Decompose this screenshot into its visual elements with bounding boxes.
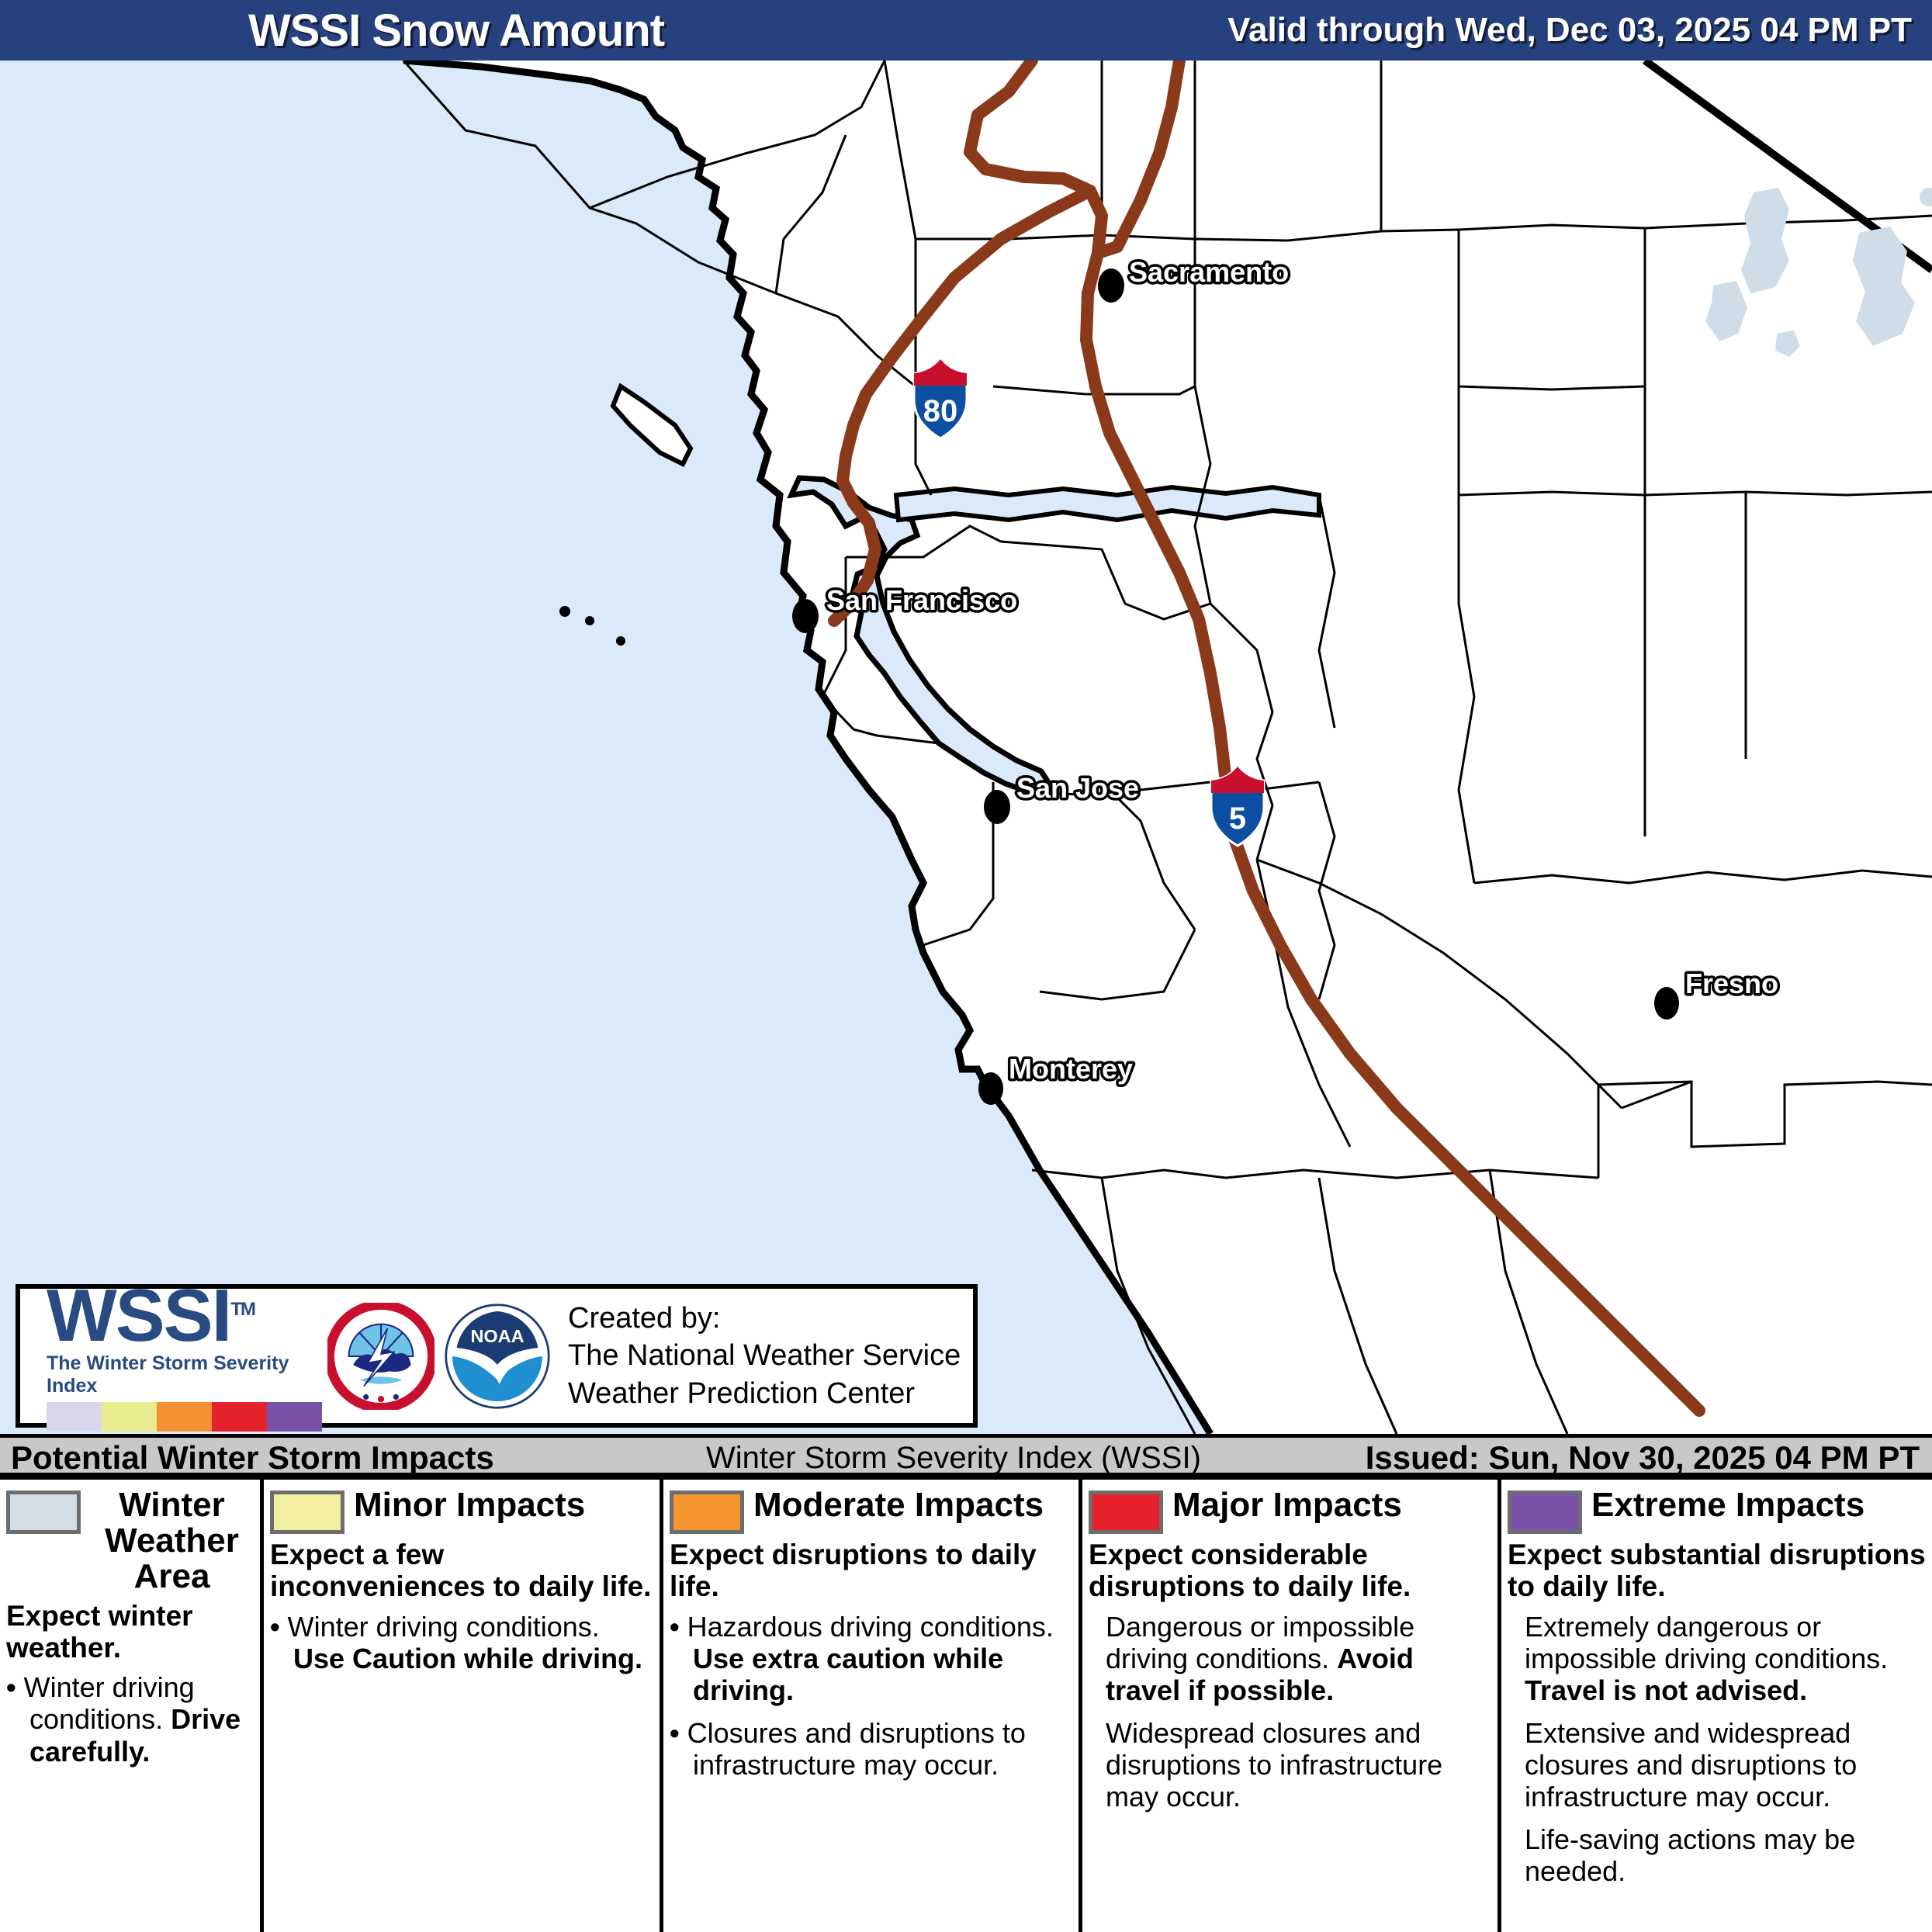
impacts-banner: Potential Winter Storm Impacts Winter St…: [0, 1434, 1932, 1477]
legend-swatch-winter-weather-area: [6, 1491, 81, 1534]
city-dot-san-jose: [984, 790, 1010, 824]
island-dot: [616, 636, 625, 646]
list-item: Extremely dangerous or impossible drivin…: [1508, 1611, 1926, 1706]
legend-summary-winter-weather-area: Expect winter weather.: [6, 1600, 254, 1664]
legend-column-moderate-impacts: Moderate Impacts Expect disruptions to d…: [663, 1480, 1082, 1932]
page-title: WSSI Snow Amount: [248, 5, 664, 57]
wssi-snow-amount-map-page: WSSI Snow Amount Valid through Wed, Dec …: [0, 0, 1932, 1932]
legend-swatch-major-impacts: [1089, 1491, 1163, 1534]
impacts-banner-title: Potential Winter Storm Impacts: [11, 1439, 494, 1477]
list-item: • Winter driving conditions. Use Caution…: [270, 1611, 653, 1674]
legend-column-major-impacts: Major Impacts Expect considerable disrup…: [1082, 1480, 1501, 1932]
svg-text:NOAA: NOAA: [470, 1326, 524, 1346]
legend-bullets-moderate-impacts: • Hazardous driving conditions. Use extr…: [670, 1611, 1072, 1781]
list-item: Widespread closures and disruptions to i…: [1089, 1717, 1491, 1813]
header-bar: WSSI Snow Amount Valid through Wed, Dec …: [0, 0, 1932, 61]
wssi-wordmark: WSSITM: [47, 1280, 323, 1351]
wssi-color-ramp: [47, 1402, 322, 1432]
svg-text:5: 5: [1229, 802, 1246, 836]
list-item: Dangerous or impossible driving conditio…: [1089, 1611, 1491, 1706]
created-by-text: Created by: The National Weather Service…: [568, 1300, 961, 1413]
legend-column-minor-impacts: Minor Impacts Expect a few inconvenience…: [264, 1480, 663, 1932]
created-by-line-3: Weather Prediction Center: [568, 1375, 961, 1413]
created-by-line-2: The National Weather Service: [568, 1337, 961, 1375]
legend-title-winter-weather-area: Winter Weather Area: [90, 1487, 254, 1595]
svg-text:80: 80: [923, 394, 958, 428]
impact-legend: Winter Weather Area Expect winter weathe…: [0, 1477, 1932, 1932]
island-dot: [559, 606, 570, 617]
legend-title-major-impacts: Major Impacts: [1172, 1487, 1402, 1523]
legend-summary-extreme-impacts: Expect substantial disruptions to daily …: [1508, 1539, 1926, 1603]
legend-bullets-minor-impacts: • Winter driving conditions. Use Caution…: [270, 1611, 653, 1674]
map-graphics: 80 5 Sacramento San Francisco San Jose F…: [0, 61, 1932, 1434]
city-label-fresno: Fresno: [1685, 968, 1778, 999]
legend-column-extreme-impacts: Extreme Impacts Expect substantial disru…: [1501, 1480, 1932, 1932]
created-by-line-1: Created by:: [568, 1300, 961, 1338]
national-weather-service-logo: [327, 1303, 435, 1410]
legend-swatch-moderate-impacts: [670, 1491, 744, 1534]
legend-title-moderate-impacts: Moderate Impacts: [753, 1487, 1044, 1523]
delta-water: [896, 487, 1319, 520]
list-item: • Closures and disruptions to infrastruc…: [670, 1717, 1072, 1781]
legend-column-winter-weather-area: Winter Weather Area Expect winter weathe…: [0, 1480, 264, 1932]
legend-title-extreme-impacts: Extreme Impacts: [1591, 1487, 1864, 1523]
city-dot-monterey: [978, 1072, 1003, 1105]
legend-summary-major-impacts: Expect considerable disruptions to daily…: [1089, 1539, 1491, 1603]
legend-bullets-winter-weather-area: • Winter driving conditions. Drive caref…: [6, 1671, 254, 1767]
city-label-sacramento: Sacramento: [1129, 256, 1289, 288]
impacts-banner-subtitle: Winter Storm Severity Index (WSSI): [706, 1441, 1201, 1476]
city-dot-sacramento: [1098, 268, 1124, 303]
wssi-trademark: TM: [230, 1299, 254, 1320]
list-item: Extensive and widespread closures and di…: [1508, 1717, 1926, 1813]
city-dot-fresno: [1654, 987, 1679, 1020]
list-item: Life-saving actions may be needed.: [1508, 1823, 1926, 1887]
valid-through-text: Valid through Wed, Dec 03, 2025 04 PM PT: [1227, 11, 1912, 50]
issued-text: Issued: Sun, Nov 30, 2025 04 PM PT: [1366, 1439, 1920, 1477]
legend-summary-minor-impacts: Expect a few inconveniences to daily lif…: [270, 1539, 653, 1603]
legend-bullets-extreme-impacts: Extremely dangerous or impossible drivin…: [1508, 1611, 1926, 1887]
wssi-logo: WSSITM The Winter Storm Severity Index: [20, 1280, 323, 1432]
city-label-san-francisco: San Francisco: [826, 584, 1017, 616]
city-label-monterey: Monterey: [1009, 1053, 1133, 1085]
legend-title-minor-impacts: Minor Impacts: [354, 1487, 585, 1523]
wssi-tagline: The Winter Storm Severity Index: [47, 1352, 323, 1397]
list-item: • Hazardous driving conditions. Use extr…: [670, 1611, 1072, 1706]
city-dot-san-francisco: [792, 599, 819, 633]
map-canvas[interactable]: 80 5 Sacramento San Francisco San Jose F…: [0, 61, 1932, 1434]
legend-swatch-minor-impacts: [270, 1491, 345, 1534]
list-item: • Winter driving conditions. Drive caref…: [6, 1671, 254, 1767]
legend-summary-moderate-impacts: Expect disruptions to daily life.: [670, 1539, 1072, 1603]
island-dot: [585, 616, 594, 625]
legend-bullets-major-impacts: Dangerous or impossible driving conditio…: [1089, 1611, 1491, 1813]
legend-swatch-extreme-impacts: [1508, 1491, 1582, 1534]
city-label-san-jose: San Jose: [1016, 772, 1139, 804]
created-by-panel: WSSITM The Winter Storm Severity Index: [16, 1284, 978, 1428]
noaa-logo: NOAA: [444, 1303, 551, 1410]
